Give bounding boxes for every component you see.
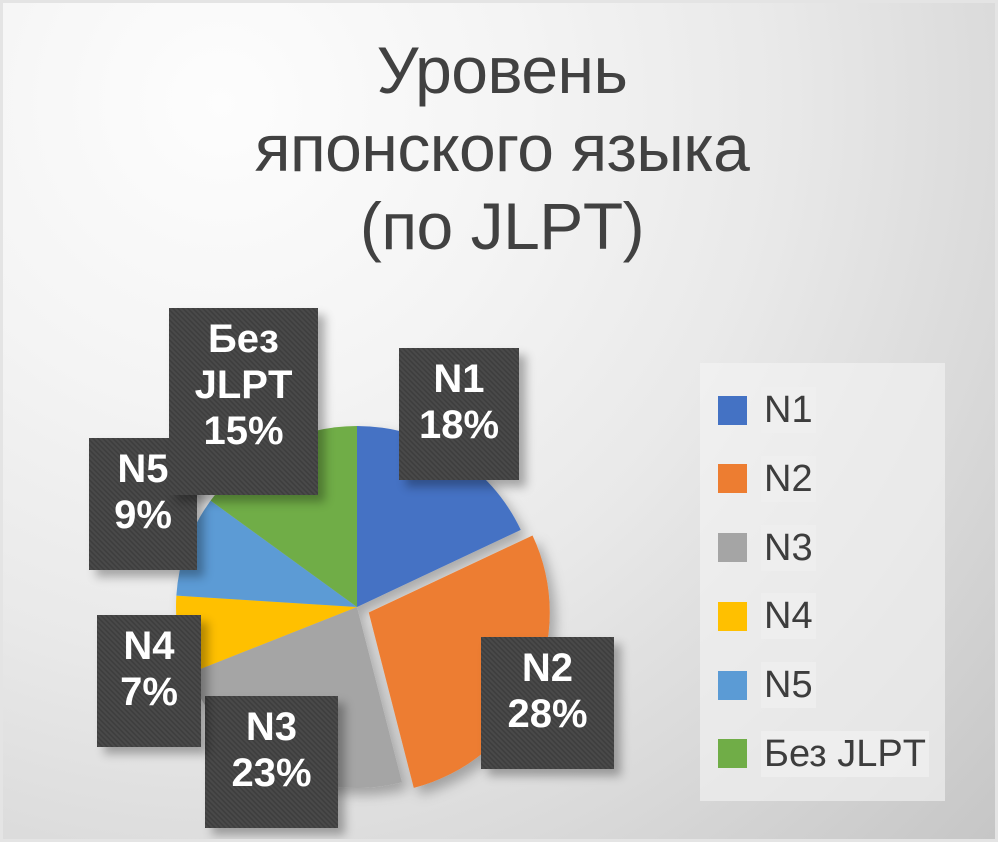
legend-swatch-icon <box>718 602 747 631</box>
data-label-n4: N4 7% <box>97 615 201 747</box>
data-label-n3: N3 23% <box>205 696 338 828</box>
legend-item-label: N5 <box>761 662 816 708</box>
legend-item-n3[interactable]: N3 <box>718 519 931 577</box>
legend-item-n1[interactable]: N1 <box>718 381 931 439</box>
data-label-no-jlpt: Без JLPT 15% <box>169 308 318 495</box>
data-label-n2: N2 28% <box>481 637 614 769</box>
legend-swatch-icon <box>718 533 747 562</box>
legend-item-label: N3 <box>761 525 816 571</box>
legend-item-n5[interactable]: N5 <box>718 656 931 714</box>
legend-swatch-icon <box>718 671 747 700</box>
chart-title: Уровень японского языка (по JLPT) <box>63 31 941 265</box>
legend-item-label: N4 <box>761 593 816 639</box>
legend-item-n4[interactable]: N4 <box>718 587 931 645</box>
legend-swatch-icon <box>718 464 747 493</box>
legend-item-n2[interactable]: N2 <box>718 450 931 508</box>
chart-slide: Уровень японского языка (по JLPT) N1 18%… <box>0 0 998 842</box>
legend-item-label: N2 <box>761 456 816 502</box>
legend-swatch-icon <box>718 396 747 425</box>
legend-swatch-icon <box>718 739 747 768</box>
data-label-n1: N1 18% <box>399 348 519 480</box>
legend-item-без-jlpt[interactable]: Без JLPT <box>718 725 931 783</box>
chart-legend: N1N2N3N4N5Без JLPT <box>700 363 945 801</box>
legend-item-label: Без JLPT <box>761 731 929 777</box>
legend-item-label: N1 <box>761 387 816 433</box>
